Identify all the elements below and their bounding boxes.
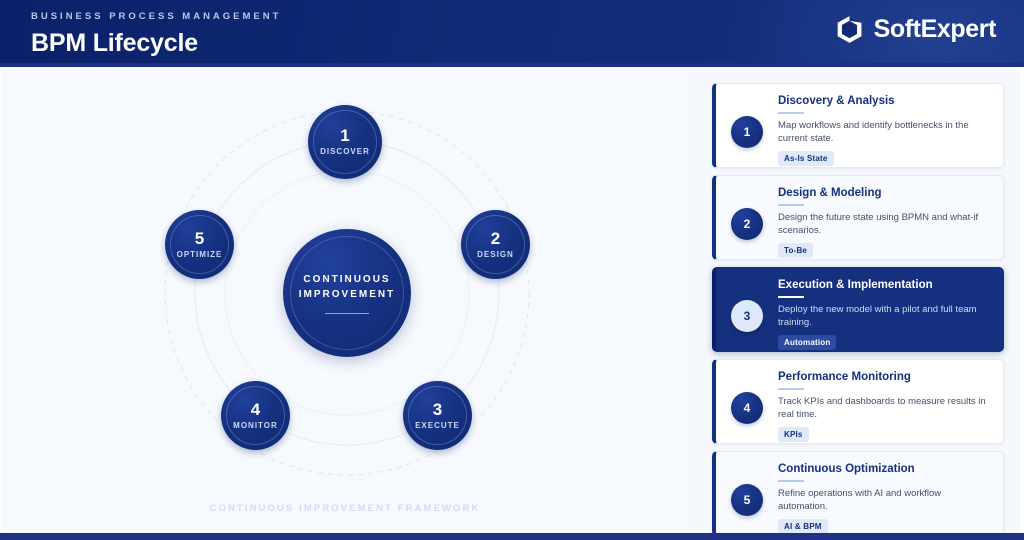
step-number-badge: 4 (731, 392, 763, 424)
step-description: Refine operations with AI and workflow a… (778, 487, 992, 513)
cycle-node-label: MONITOR (233, 420, 278, 431)
step-title: Discovery & Analysis (778, 94, 992, 109)
cycle-diagram: 1 DISCOVER 2 DESIGN 3 EXECUTE 4 MONITOR … (57, 105, 633, 505)
step-description: Design the future state using BPMN and w… (778, 211, 992, 237)
cycle-node-label: DESIGN (477, 249, 514, 260)
cycle-node-label: DISCOVER (320, 146, 370, 157)
cycle-diagram-pane: 1 DISCOVER 2 DESIGN 3 EXECUTE 4 MONITOR … (1, 67, 689, 533)
step-title-rule (778, 112, 804, 114)
cycle-node-number: 1 (340, 127, 349, 145)
page-header: BUSINESS PROCESS MANAGEMENT BPM Lifecycl… (0, 0, 1024, 63)
cycle-node-discover[interactable]: 1 DISCOVER (308, 105, 382, 179)
step-title-rule (778, 388, 804, 390)
step-card-discovery[interactable]: 1 Discovery & Analysis Map workflows and… (712, 83, 1004, 168)
cycle-node-optimize[interactable]: 5 OPTIMIZE (165, 210, 234, 279)
step-card-optimization[interactable]: 5 Continuous Optimization Refine operati… (712, 451, 1004, 536)
step-tag-badge: KPIs (778, 427, 809, 442)
step-title: Design & Modeling (778, 186, 992, 201)
cycle-node-number: 4 (251, 401, 260, 419)
softexpert-logo: SoftExpert (834, 14, 996, 45)
step-card-body: Performance Monitoring Track KPIs and da… (778, 370, 992, 442)
hub-line-2: IMPROVEMENT (299, 287, 395, 302)
step-tag-badge: As-Is State (778, 151, 834, 166)
step-title: Continuous Optimization (778, 462, 992, 477)
step-title: Execution & Implementation (778, 278, 992, 293)
step-description: Map workflows and identify bottlenecks i… (778, 119, 992, 145)
cycle-node-execute[interactable]: 3 EXECUTE (403, 381, 472, 450)
footer-bar (0, 533, 1024, 540)
step-card-monitoring[interactable]: 4 Performance Monitoring Track KPIs and … (712, 359, 1004, 444)
bpm-lifecycle-page: BUSINESS PROCESS MANAGEMENT BPM Lifecycl… (0, 0, 1024, 540)
step-number-badge: 5 (731, 484, 763, 516)
step-description: Track KPIs and dashboards to measure res… (778, 395, 992, 421)
cycle-node-label: OPTIMIZE (177, 249, 223, 260)
right-edge (1020, 67, 1024, 533)
header-eyebrow: BUSINESS PROCESS MANAGEMENT (31, 11, 281, 23)
step-card-design[interactable]: 2 Design & Modeling Design the future st… (712, 175, 1004, 260)
step-number-badge: 2 (731, 208, 763, 240)
step-card-execution[interactable]: 3 Execution & Implementation Deploy the … (712, 267, 1004, 352)
step-card-body: Design & Modeling Design the future stat… (778, 186, 992, 258)
step-title-rule (778, 480, 804, 482)
step-number-badge: 3 (731, 300, 763, 332)
hexagon-swirl-icon (834, 14, 865, 45)
cycle-node-design[interactable]: 2 DESIGN (461, 210, 530, 279)
hub-line-1: CONTINUOUS (303, 272, 390, 287)
cycle-node-number: 5 (195, 230, 204, 248)
cycle-node-number: 3 (433, 401, 442, 419)
page-title: BPM Lifecycle (31, 28, 281, 58)
cycle-node-label: EXECUTE (415, 420, 460, 431)
header-title-block: BUSINESS PROCESS MANAGEMENT BPM Lifecycl… (31, 11, 281, 58)
step-card-body: Discovery & Analysis Map workflows and i… (778, 94, 992, 166)
cycle-node-monitor[interactable]: 4 MONITOR (221, 381, 290, 450)
step-card-body: Execution & Implementation Deploy the ne… (778, 278, 992, 350)
hub-divider (325, 313, 369, 314)
step-tag-badge: Automation (778, 335, 836, 350)
step-card-body: Continuous Optimization Refine operation… (778, 462, 992, 534)
cycle-node-number: 2 (491, 230, 500, 248)
lifecycle-steps-list: 1 Discovery & Analysis Map workflows and… (700, 72, 1016, 530)
step-title: Performance Monitoring (778, 370, 992, 385)
logo-wordmark: SoftExpert (874, 14, 996, 45)
step-title-rule (778, 204, 804, 206)
cycle-center-hub: CONTINUOUS IMPROVEMENT (283, 229, 411, 357)
step-tag-badge: AI & BPM (778, 519, 828, 534)
step-description: Deploy the new model with a pilot and fu… (778, 303, 992, 329)
diagram-caption: CONTINUOUS IMPROVEMENT FRAMEWORK (57, 503, 633, 514)
step-number-badge: 1 (731, 116, 763, 148)
step-tag-badge: To-Be (778, 243, 813, 258)
step-title-rule (778, 296, 804, 298)
